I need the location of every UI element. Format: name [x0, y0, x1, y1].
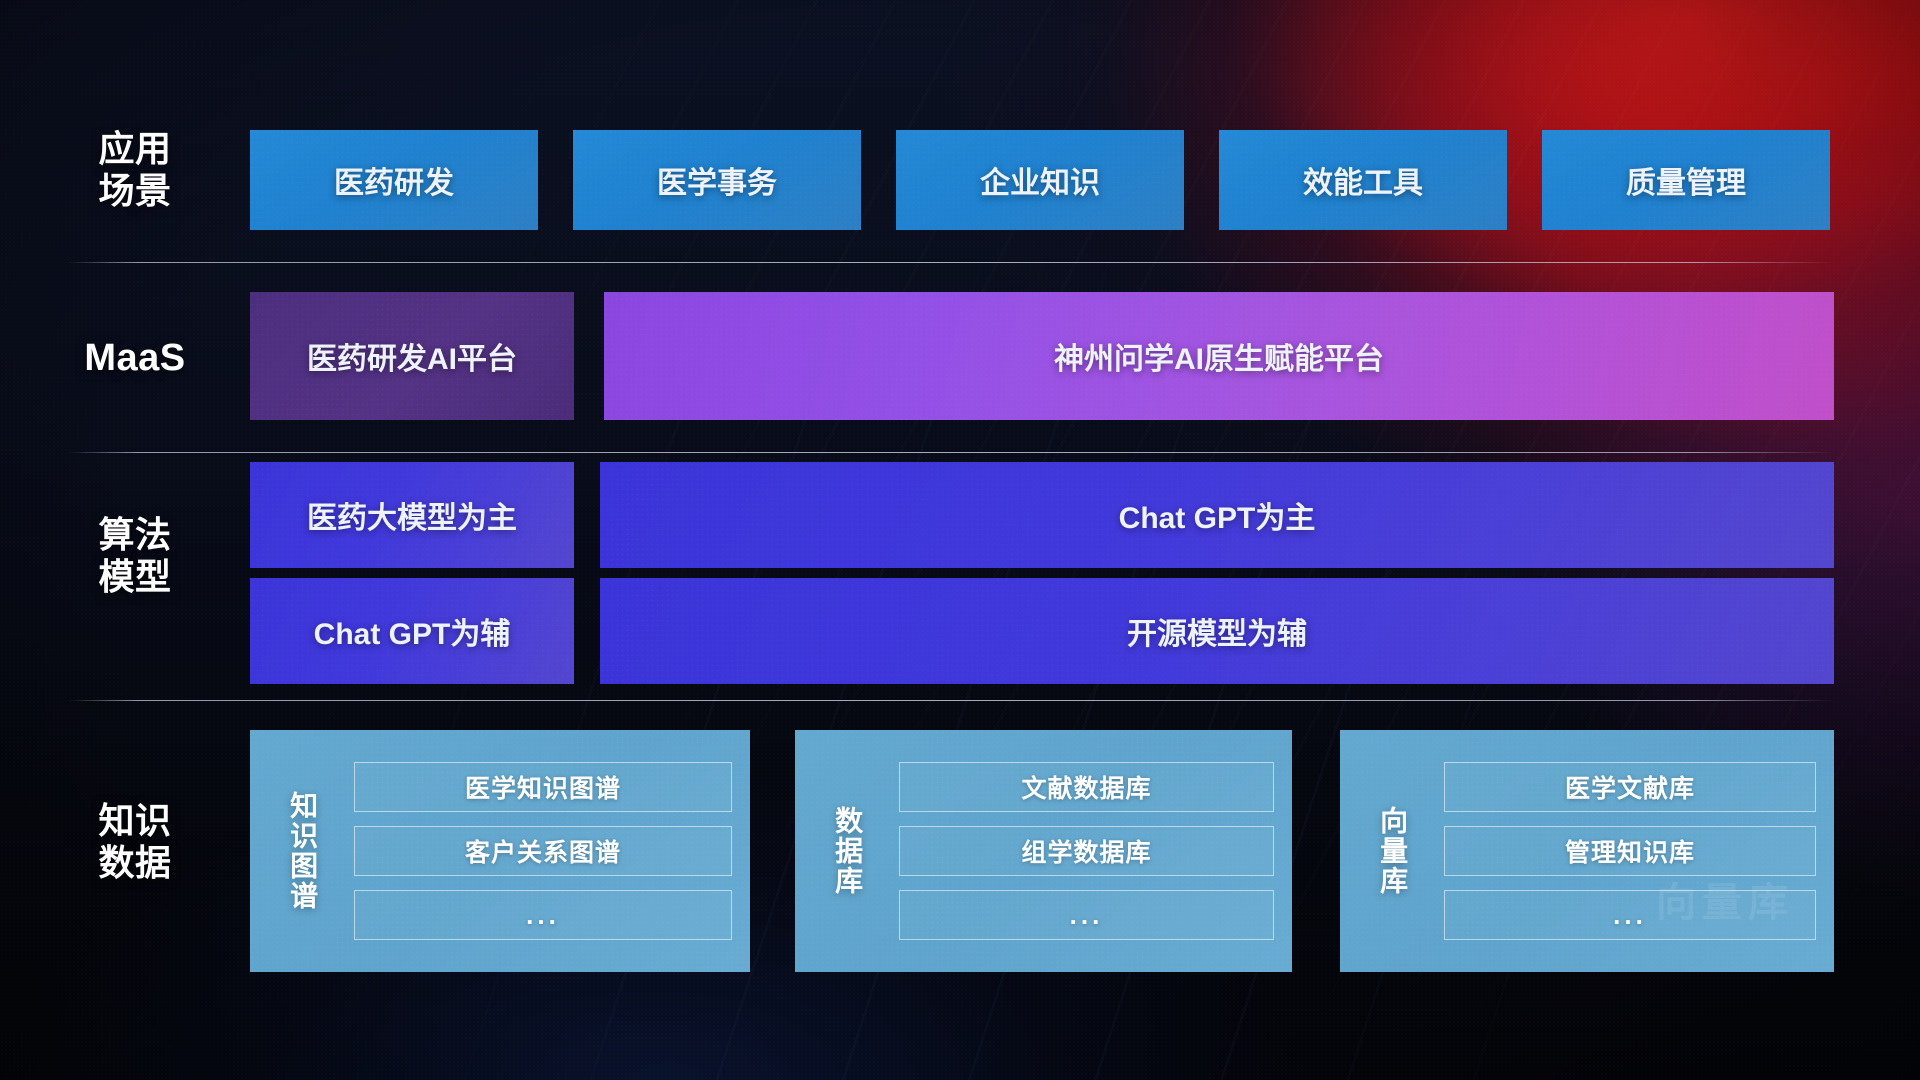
row-label-maas: MaaS [70, 336, 200, 381]
maas-right-box[interactable]: 神州问学AI原生赋能平台 [604, 292, 1834, 420]
divider-algorithm-knowledge [68, 700, 1834, 701]
divider-maas-algorithm [68, 452, 1834, 453]
app-box-1[interactable]: 医药研发 [250, 130, 538, 230]
knowledge-panel-3-item-3[interactable]: ... [1444, 890, 1816, 940]
row-label-application: 应用 场景 [70, 128, 200, 213]
knowledge-panel-3-item-1[interactable]: 医学文献库 [1444, 762, 1816, 812]
app-box-1-label: 医药研发 [334, 158, 454, 202]
knowledge-panel-3-items: 医学文献库 管理知识库 ... [1444, 730, 1834, 972]
knowledge-panel-2-item-3[interactable]: ... [899, 890, 1274, 940]
slide-canvas: 应用 场景 医药研发 医学事务 企业知识 效能工具 质量管理 MaaS 医药研发… [0, 0, 1920, 1080]
knowledge-panel-3: 向量库 向量库 医学文献库 管理知识库 ... [1340, 730, 1834, 972]
algo-box-right-1-label: Chat GPT为主 [1119, 493, 1316, 537]
algo-box-left-2-label: Chat GPT为辅 [314, 609, 511, 653]
knowledge-panel-1-item-1[interactable]: 医学知识图谱 [354, 762, 732, 812]
knowledge-panel-2-title: 数据库 [795, 730, 899, 972]
knowledge-panel-2-items: 文献数据库 组学数据库 ... [899, 730, 1292, 972]
knowledge-panel-2-item-1[interactable]: 文献数据库 [899, 762, 1274, 812]
app-box-2-label: 医学事务 [657, 158, 777, 202]
maas-right-box-label: 神州问学AI原生赋能平台 [1054, 334, 1384, 378]
knowledge-panel-1-item-3[interactable]: ... [354, 890, 732, 940]
algo-box-right-2[interactable]: 开源模型为辅 [600, 578, 1834, 684]
knowledge-panel-1-item-2[interactable]: 客户关系图谱 [354, 826, 732, 876]
app-box-3-label: 企业知识 [980, 158, 1100, 202]
algo-box-left-2[interactable]: Chat GPT为辅 [250, 578, 574, 684]
knowledge-panel-1: 知识图谱 医学知识图谱 客户关系图谱 ... [250, 730, 750, 972]
algo-box-left-1[interactable]: 医药大模型为主 [250, 462, 574, 568]
row-label-algorithm: 算法 模型 [70, 514, 200, 599]
maas-left-box-label: 医药研发AI平台 [307, 334, 517, 378]
algo-box-left-1-label: 医药大模型为主 [307, 493, 517, 537]
algo-box-right-1[interactable]: Chat GPT为主 [600, 462, 1834, 568]
knowledge-panel-1-title: 知识图谱 [250, 730, 354, 972]
knowledge-panel-3-item-2[interactable]: 管理知识库 [1444, 826, 1816, 876]
divider-application-maas [68, 262, 1834, 263]
app-box-3[interactable]: 企业知识 [896, 130, 1184, 230]
app-box-5[interactable]: 质量管理 [1542, 130, 1830, 230]
knowledge-panel-2-item-2[interactable]: 组学数据库 [899, 826, 1274, 876]
maas-left-box[interactable]: 医药研发AI平台 [250, 292, 574, 420]
knowledge-panel-3-title: 向量库 [1340, 730, 1444, 972]
app-box-4[interactable]: 效能工具 [1219, 130, 1507, 230]
app-box-4-label: 效能工具 [1303, 158, 1423, 202]
knowledge-panel-2: 数据库 文献数据库 组学数据库 ... [795, 730, 1292, 972]
knowledge-panel-1-items: 医学知识图谱 客户关系图谱 ... [354, 730, 750, 972]
app-box-2[interactable]: 医学事务 [573, 130, 861, 230]
app-box-5-label: 质量管理 [1626, 158, 1746, 202]
algo-box-right-2-label: 开源模型为辅 [1127, 609, 1307, 653]
row-label-knowledge: 知识 数据 [70, 800, 200, 885]
